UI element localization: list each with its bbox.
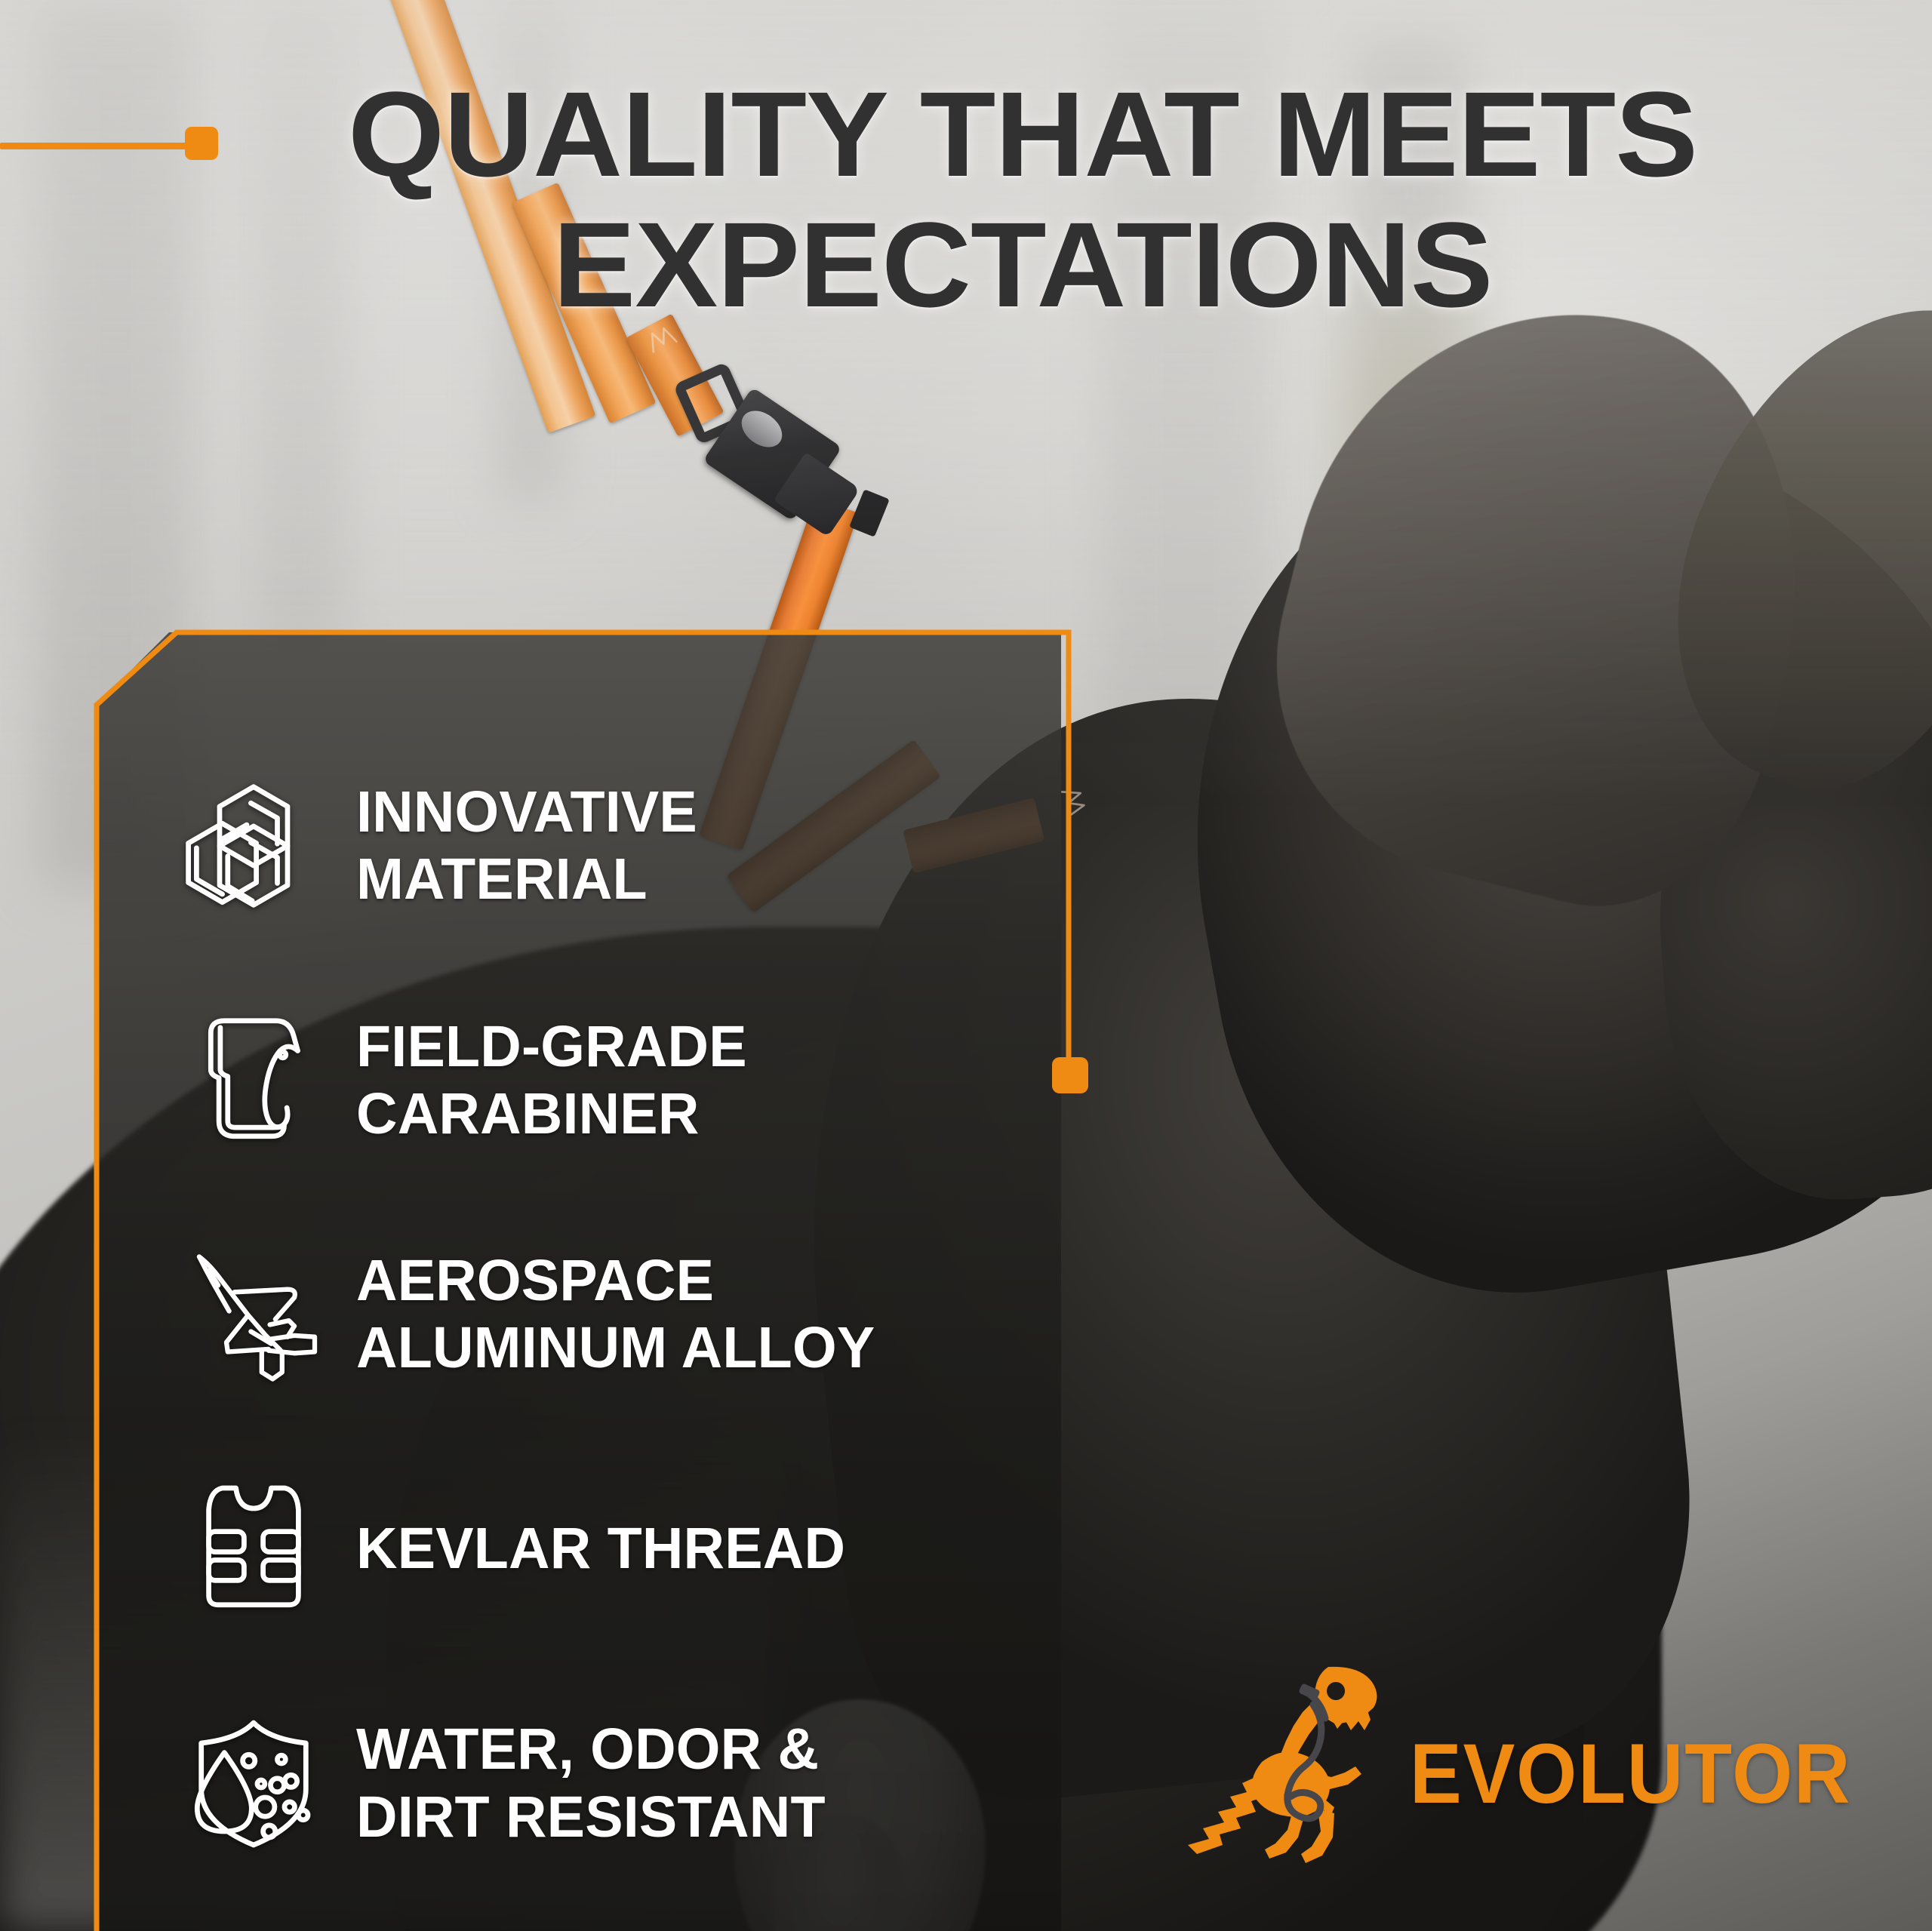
feature-label: FIELD-GRADE CARABINER xyxy=(356,1013,747,1148)
feature-item-kevlar-thread: KEVLAR THREAD xyxy=(186,1432,1031,1667)
fighter-jet-icon xyxy=(186,1247,321,1382)
tactical-vest-icon xyxy=(186,1481,321,1617)
page-title: QUALITY THAT MEETS EXPECTATIONS xyxy=(0,72,1932,326)
feature-item-aerospace-aluminum-alloy: AEROSPACE ALUMINUM ALLOY xyxy=(186,1198,1031,1432)
trex-skeleton-with-leash-icon xyxy=(1180,1659,1407,1878)
feature-item-innovative-material: INNOVATIVE MATERIAL xyxy=(186,729,1031,964)
honeycomb-hexagons-icon xyxy=(186,778,321,914)
feature-label-line-1: FIELD-GRADE xyxy=(356,1014,747,1079)
feature-label: WATER, ODOR & DIRT RESISTANT xyxy=(356,1716,826,1851)
feature-item-field-grade-carabiner: FIELD-GRADE CARABINER xyxy=(186,964,1031,1198)
feature-item-water-odor-dirt-resistant: WATER, ODOR & DIRT RESISTANT xyxy=(186,1666,1031,1901)
carabiner-icon xyxy=(186,1013,321,1148)
feature-label: INNOVATIVE MATERIAL xyxy=(356,779,697,914)
feature-label-line-1: INNOVATIVE xyxy=(356,779,697,844)
feature-label: KEVLAR THREAD xyxy=(356,1515,845,1582)
headline-line-2: EXPECTATIONS xyxy=(202,203,1842,326)
feature-label-line-2: ALUMINUM ALLOY xyxy=(356,1315,875,1380)
infographic-canvas: QUALITY THAT MEETS EXPECTATIONS xyxy=(0,0,1932,1931)
shield-water-drop-icon xyxy=(186,1716,321,1852)
feature-label-line-2: CARABINER xyxy=(356,1081,700,1146)
feature-label-line-2: MATERIAL xyxy=(356,847,648,912)
headline-line-1: QUALITY THAT MEETS xyxy=(202,72,1842,195)
brand-logo: EVOLUTOR xyxy=(1180,1659,1890,1878)
brand-name: EVOLUTOR xyxy=(1410,1725,1851,1822)
features-list: INNOVATIVE MATERIAL FI xyxy=(97,632,1061,1931)
feature-label-line-1: WATER, ODOR & xyxy=(356,1717,819,1782)
feature-label-line-1: KEVLAR THREAD xyxy=(356,1516,845,1581)
feature-label-line-2: DIRT RESISTANT xyxy=(356,1785,826,1850)
feature-label-line-1: AEROSPACE xyxy=(356,1248,714,1313)
feature-label: AEROSPACE ALUMINUM ALLOY xyxy=(356,1247,875,1382)
